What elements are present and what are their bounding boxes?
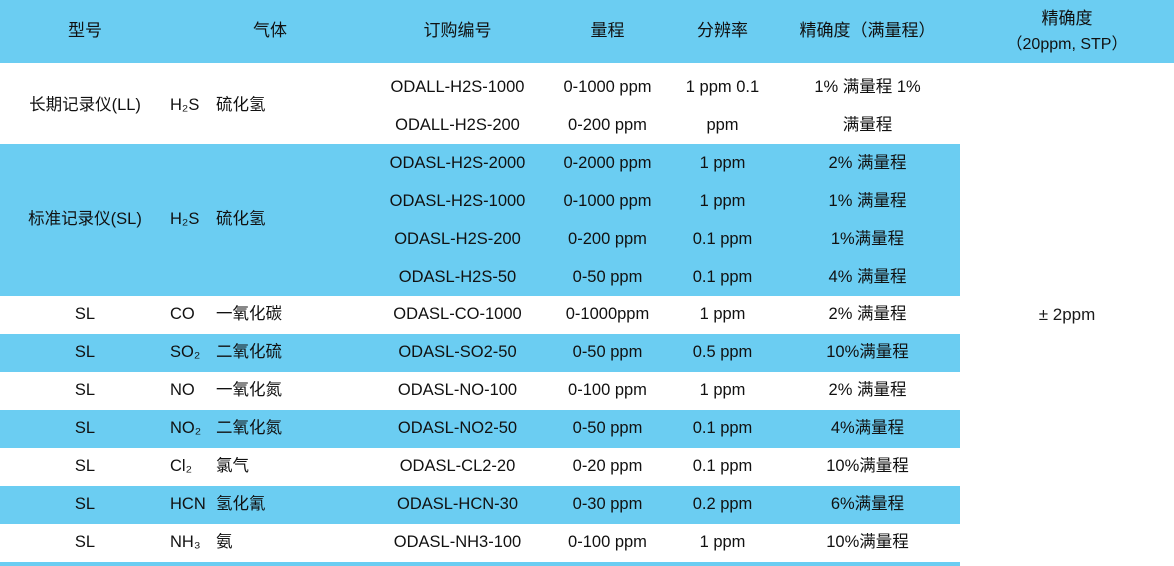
range-line: 0-50 ppm — [545, 258, 670, 296]
gas-name: 氢化氰 — [216, 493, 266, 517]
gas-formula: Cl₂ — [170, 455, 216, 479]
accuracy-line: 1% 满量程 — [775, 182, 960, 220]
gas-name: 二氧化硫 — [216, 341, 282, 365]
cell-range: 0-1000 ppm 0-200 ppm — [545, 68, 670, 144]
cell-order-no: ODASL-CO-1000 — [370, 296, 545, 334]
header-accuracy-stp-line1: 精确度 — [960, 8, 1174, 31]
gas-name: 二氧化氮 — [216, 417, 282, 441]
cell-resolution: 1 ppm 0.1 ppm — [670, 68, 775, 144]
header-gas: 气体 — [170, 0, 370, 63]
header-resolution: 分辨率 — [670, 0, 775, 63]
cell-model: SL — [0, 448, 170, 486]
cell-accuracy: 6%满量程 — [775, 486, 960, 524]
cell-model: SL — [0, 410, 170, 448]
cell-model: SL — [0, 296, 170, 334]
range-line: 0-200 ppm — [545, 220, 670, 258]
cell-range: 0-20 ppm — [545, 448, 670, 486]
header-accuracy-stp-line2: （20ppm, STP） — [960, 34, 1174, 56]
gas-name: 硫化氢 — [216, 208, 266, 232]
cell-gas: H₂S硫化氢 — [170, 68, 370, 144]
cell-range: 0-2000 ppm 0-1000 ppm 0-200 ppm 0-50 ppm — [545, 144, 670, 296]
gas-name: 氯气 — [216, 455, 249, 479]
cell-range: 0-50 ppm — [545, 334, 670, 372]
cell-resolution: 1 ppm — [670, 296, 775, 334]
gas-name: 一氧化氮 — [216, 379, 282, 403]
cell-gas: CO一氧化碳 — [170, 296, 370, 334]
cell-model: SL — [0, 524, 170, 562]
order-no-line: ODASL-H2S-200 — [370, 220, 545, 258]
resolution-line: 0.1 ppm — [670, 220, 775, 258]
cell-order-no: ODASL-HCN-30 — [370, 486, 545, 524]
range-line: 0-200 ppm — [545, 106, 670, 144]
cell-accuracy: 10%满量程 — [775, 448, 960, 486]
cell-order-no: ODASL-CL2-20 — [370, 448, 545, 486]
gas-formula: H₂S — [170, 208, 216, 232]
cell-resolution: 1 ppm 1 ppm 0.1 ppm 0.1 ppm — [670, 144, 775, 296]
cell-resolution: 0.1 ppm — [670, 410, 775, 448]
resolution-line: 0.1 ppm — [670, 258, 775, 296]
cell-model: SL — [0, 486, 170, 524]
resolution-line: 1 ppm — [670, 182, 775, 220]
order-no-line: ODALL-H2S-1000 — [370, 68, 545, 106]
cell-model: SL — [0, 334, 170, 372]
gas-logger-spec-table: 型号 气体 订购编号 量程 分辨率 精确度（满量程） 精确度 （20ppm, S… — [0, 0, 1174, 566]
cell-resolution: 0.1 ppm — [670, 448, 775, 486]
cell-accuracy: 10%满量程 — [775, 524, 960, 562]
gas-formula: HCN — [170, 493, 216, 517]
gas-formula: H₂S — [170, 94, 216, 118]
header-model: 型号 — [0, 0, 170, 63]
order-no-line: ODALL-H2S-200 — [370, 106, 545, 144]
gas-formula: SO₂ — [170, 341, 216, 365]
cell-accuracy: 1% 满量程 1% 满量程 — [775, 68, 960, 144]
range-line: 0-2000 ppm — [545, 144, 670, 182]
cell-resolution: 1 ppm — [670, 524, 775, 562]
cell-accuracy: 2% 满量程 1% 满量程 1%满量程 4% 满量程 — [775, 144, 960, 296]
accuracy-line: 2% 满量程 — [775, 144, 960, 182]
gas-formula: NO₂ — [170, 417, 216, 441]
gas-name: 硫化氢 — [216, 94, 266, 118]
header-accuracy-fs: 精确度（满量程） — [775, 0, 960, 63]
cell-range: 0-100 ppm — [545, 372, 670, 410]
accuracy-stp-merged-cell: ± 2ppm — [960, 63, 1174, 566]
range-line: 0-1000 ppm — [545, 182, 670, 220]
accuracy-line: 4% 满量程 — [775, 258, 960, 296]
spec-table-container: 型号 气体 订购编号 量程 分辨率 精确度（满量程） 精确度 （20ppm, S… — [0, 0, 1174, 551]
cell-model: 长期记录仪(LL) — [0, 68, 170, 144]
cell-model: 标准记录仪(SL) — [0, 144, 170, 296]
cell-accuracy: 2% 满量程 — [775, 372, 960, 410]
cell-range: 0-100 ppm — [545, 524, 670, 562]
resolution-line: ppm — [670, 106, 775, 144]
accuracy-line: 满量程 — [775, 106, 960, 144]
cell-range: 0-30 ppm — [545, 486, 670, 524]
cell-resolution: 1 ppm — [670, 372, 775, 410]
cell-resolution: 0.5 ppm — [670, 334, 775, 372]
cell-gas: Cl₂氯气 — [170, 448, 370, 486]
cell-accuracy: 4%满量程 — [775, 410, 960, 448]
cell-range: 0-1000ppm — [545, 296, 670, 334]
cell-gas: HCN氢化氰 — [170, 486, 370, 524]
cell-order-no: ODASL-H2S-2000 ODASL-H2S-1000 ODASL-H2S-… — [370, 144, 545, 296]
range-line: 0-1000 ppm — [545, 68, 670, 106]
gas-formula: CO — [170, 303, 216, 327]
cell-gas: SO₂二氧化硫 — [170, 334, 370, 372]
gas-formula: NH₃ — [170, 531, 216, 555]
header-accuracy-stp: 精确度 （20ppm, STP） — [960, 0, 1174, 63]
cell-accuracy: 2% 满量程 — [775, 296, 960, 334]
cell-order-no: ODASL-SO2-50 — [370, 334, 545, 372]
gas-name: 氨 — [216, 531, 233, 555]
header-range: 量程 — [545, 0, 670, 63]
cell-model: SL — [0, 372, 170, 410]
resolution-line: 1 ppm — [670, 144, 775, 182]
cell-order-no: ODASL-NH3-100 — [370, 524, 545, 562]
cell-accuracy: 10%满量程 — [775, 334, 960, 372]
cell-order-no: ODALL-H2S-1000 ODALL-H2S-200 — [370, 68, 545, 144]
gas-name: 一氧化碳 — [216, 303, 282, 327]
cell-order-no: ODASL-NO-100 — [370, 372, 545, 410]
cell-gas: NO₂二氧化氮 — [170, 410, 370, 448]
cell-range: 0-50 ppm — [545, 410, 670, 448]
cell-order-no: ODASL-NO2-50 — [370, 410, 545, 448]
order-no-line: ODASL-H2S-2000 — [370, 144, 545, 182]
accuracy-line: 1% 满量程 1% — [775, 68, 960, 106]
order-no-line: ODASL-H2S-1000 — [370, 182, 545, 220]
cell-gas: NO一氧化氮 — [170, 372, 370, 410]
order-no-line: ODASL-H2S-50 — [370, 258, 545, 296]
cell-gas: H₂S硫化氢 — [170, 144, 370, 296]
table-header-row: 型号 气体 订购编号 量程 分辨率 精确度（满量程） 精确度 （20ppm, S… — [0, 0, 1174, 63]
resolution-line: 1 ppm 0.1 — [670, 68, 775, 106]
accuracy-line: 1%满量程 — [775, 220, 960, 258]
cell-gas: NH₃氨 — [170, 524, 370, 562]
header-order-no: 订购编号 — [370, 0, 545, 63]
bottom-rule-line — [0, 562, 960, 566]
cell-resolution: 0.2 ppm — [670, 486, 775, 524]
gas-formula: NO — [170, 379, 216, 403]
